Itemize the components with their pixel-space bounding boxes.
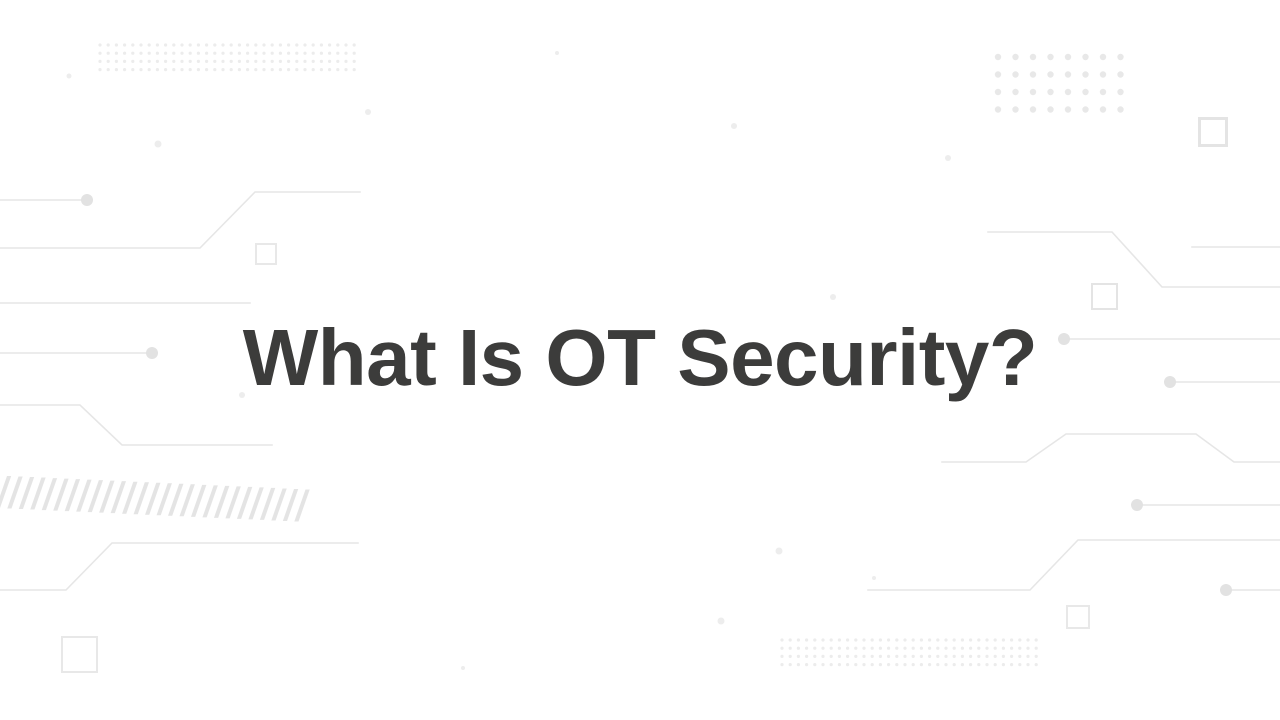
slide-canvas: What Is OT Security? bbox=[0, 0, 1280, 720]
title-block: What Is OT Security? bbox=[0, 0, 1280, 720]
page-title: What Is OT Security? bbox=[243, 318, 1038, 398]
